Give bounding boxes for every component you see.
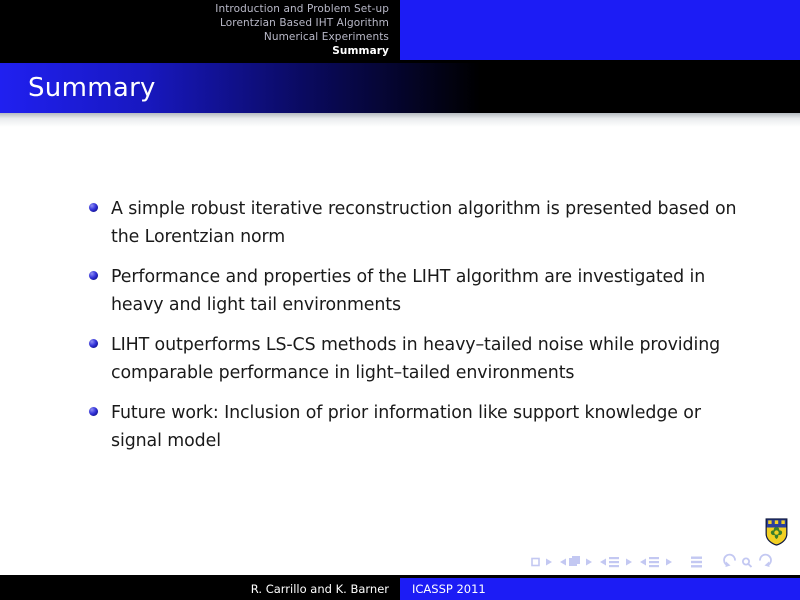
section-back-icon: [640, 559, 646, 566]
section-icon: [649, 565, 659, 567]
slide-forward-icon: [546, 559, 552, 566]
subsection-back-icon: [600, 559, 606, 566]
title-bar-shadow: [0, 113, 800, 127]
bullet-sphere-icon: [89, 407, 98, 416]
page-title: Summary: [28, 73, 156, 103]
frame-icon: [572, 556, 580, 564]
search-icon: [743, 558, 749, 564]
bullet-sphere-icon: [89, 339, 98, 348]
footline-bar: R. Carrillo and K. Barner ICASSP 2011: [0, 578, 800, 600]
presentation-icon: [691, 561, 702, 563]
university-crest-logo: [765, 518, 788, 546]
bullet-sphere-icon: [89, 271, 98, 280]
bullet-sphere-icon: [89, 203, 98, 212]
subsection-icon: [609, 557, 619, 559]
frame-back-icon: [560, 559, 566, 566]
bullet-text: Performance and properties of the LIHT a…: [111, 263, 756, 319]
footer-authors: R. Carrillo and K. Barner: [0, 578, 389, 600]
back-icon: [726, 562, 731, 568]
section-forward-icon: [666, 559, 672, 566]
subsection-icon: [609, 561, 619, 563]
footer-event: ICASSP 2011: [412, 578, 486, 600]
beamer-navigation-symbols[interactable]: [530, 553, 788, 571]
section-icon: [649, 561, 659, 563]
headline-navigation-bar: Introduction and Problem Set-up Lorentzi…: [0, 0, 800, 60]
nav-item-numerical-experiments[interactable]: Numerical Experiments: [0, 30, 389, 44]
subsection-forward-icon: [626, 559, 632, 566]
slide-icon: [532, 559, 539, 566]
list-item: Future work: Inclusion of prior informat…: [0, 399, 800, 455]
frame-title-bar: Summary: [0, 63, 800, 113]
presentation-icon: [691, 565, 702, 567]
list-item: A simple robust iterative reconstruction…: [0, 195, 800, 251]
search-icon: [748, 564, 751, 567]
list-item: Performance and properties of the LIHT a…: [0, 263, 800, 319]
subsection-icon: [609, 565, 619, 567]
nav-item-summary[interactable]: Summary: [0, 44, 389, 58]
forward-icon: [765, 562, 770, 568]
bullet-text: A simple robust iterative reconstruction…: [111, 195, 756, 251]
nav-item-lorentzian-iht[interactable]: Lorentzian Based IHT Algorithm: [0, 16, 389, 30]
nav-item-introduction[interactable]: Introduction and Problem Set-up: [0, 2, 389, 16]
back-icon: [724, 555, 735, 565]
section-navigation-list: Introduction and Problem Set-up Lorentzi…: [0, 2, 389, 58]
slide-content: A simple robust iterative reconstruction…: [0, 195, 800, 467]
section-icon: [649, 557, 659, 559]
forward-icon: [760, 555, 771, 565]
presentation-icon: [691, 557, 702, 559]
bullet-text: Future work: Inclusion of prior informat…: [111, 399, 756, 455]
frame-forward-icon: [586, 559, 592, 566]
list-item: LIHT outperforms LS-CS methods in heavy–…: [0, 331, 800, 387]
bullet-text: LIHT outperforms LS-CS methods in heavy–…: [111, 331, 756, 387]
